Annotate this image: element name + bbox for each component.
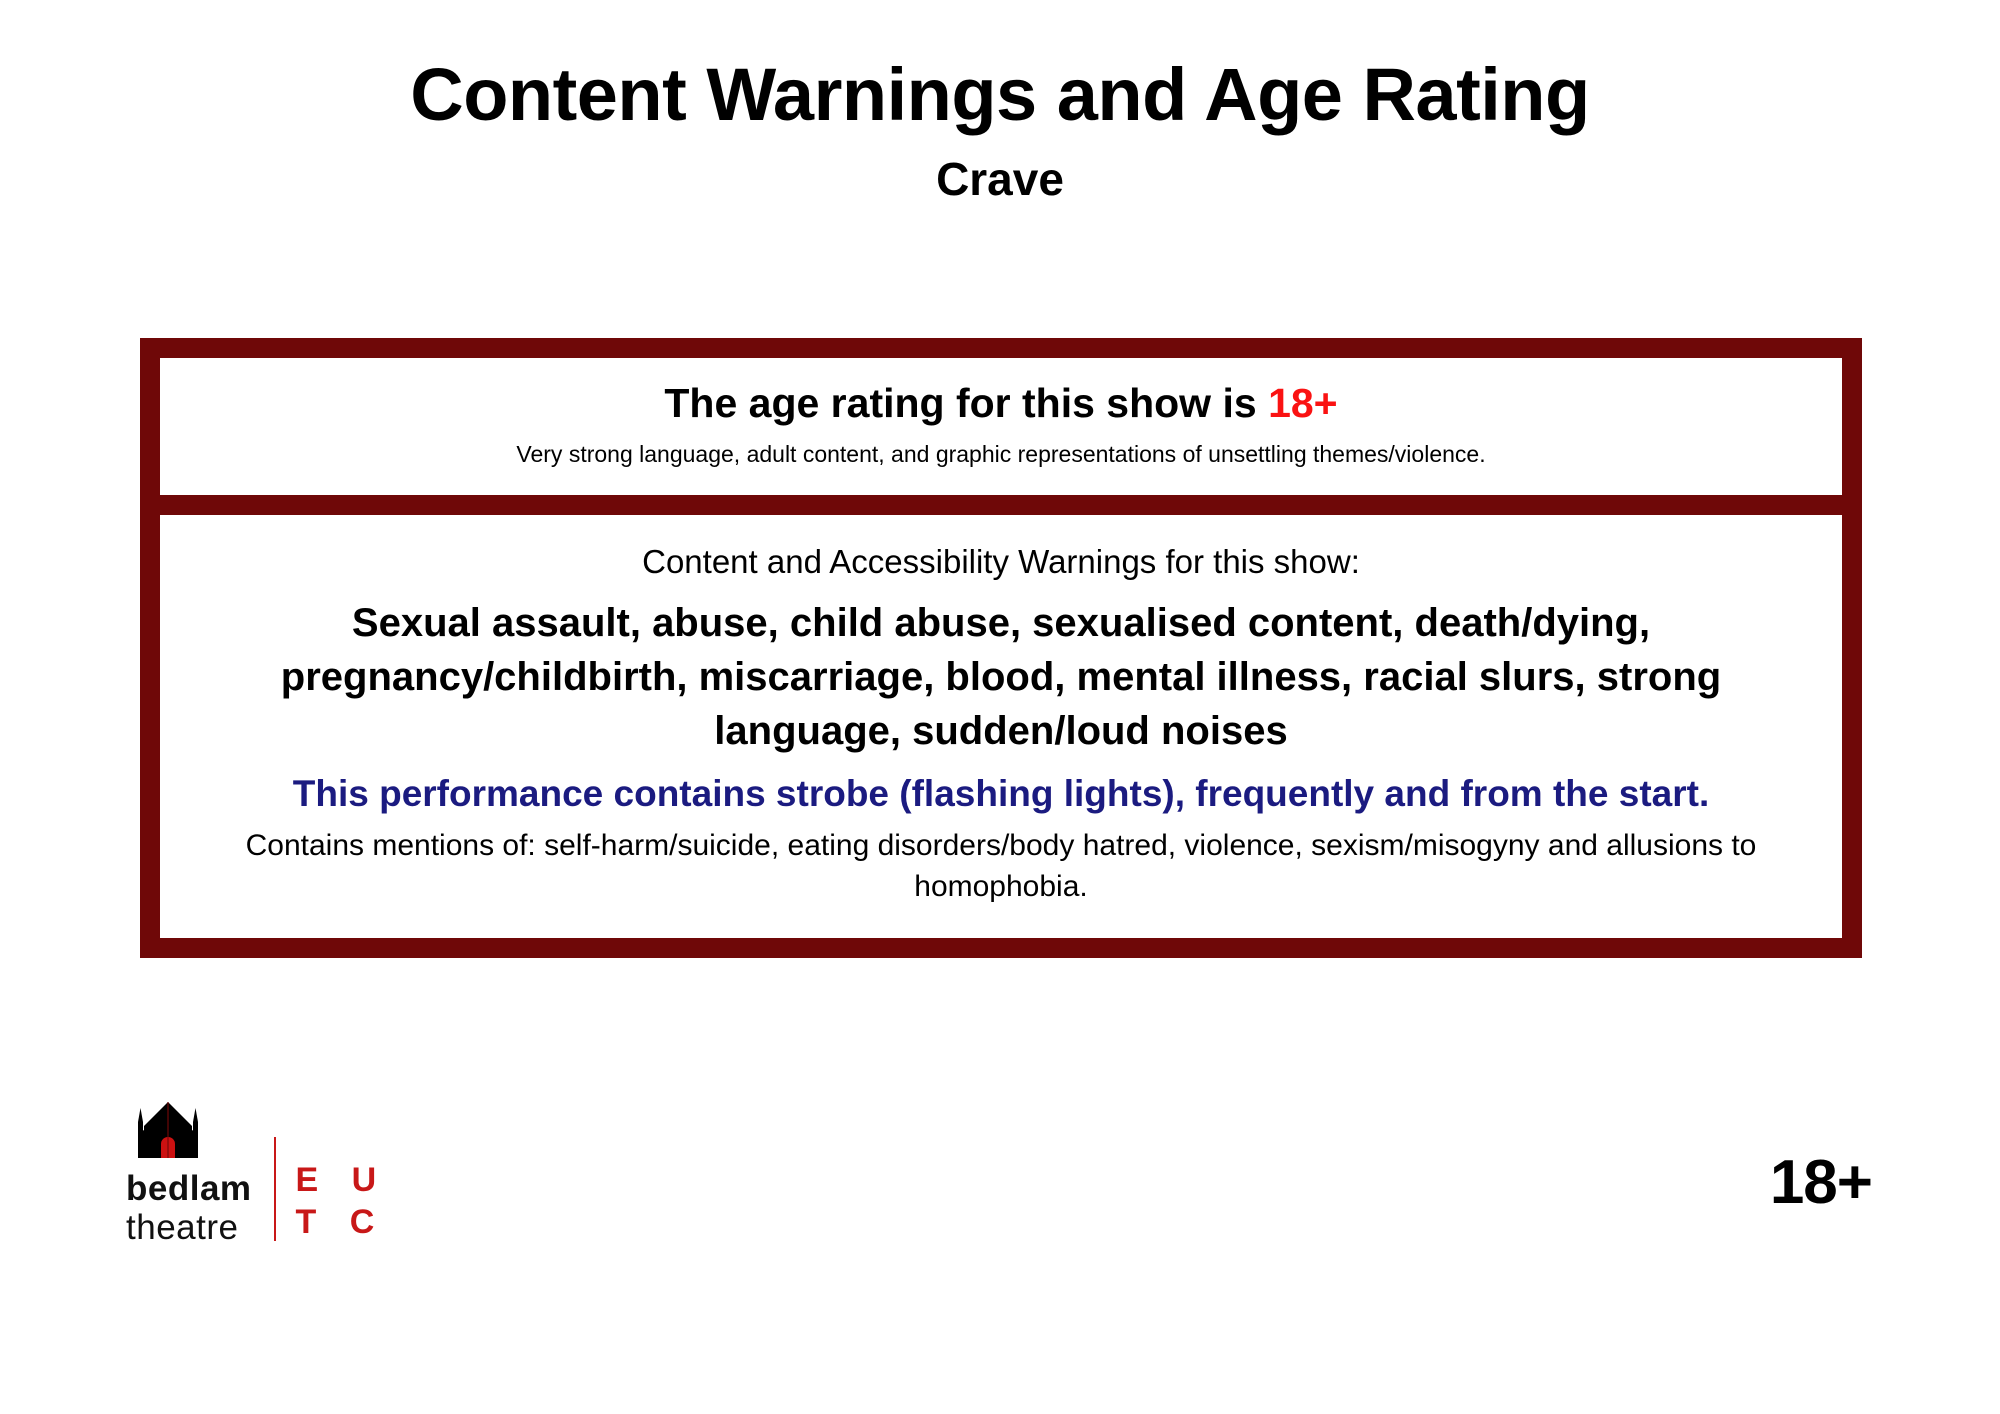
age-rating-line: The age rating for this show is 18+	[186, 380, 1816, 427]
bedlam-theatre-logo[interactable]: bedlam theatre E U T C	[126, 1100, 388, 1247]
content-mentions: Contains mentions of: self-harm/suicide,…	[190, 825, 1812, 908]
warnings-frame: The age rating for this show is 18+ Very…	[140, 338, 1862, 958]
logo-wordmark-group: bedlam theatre	[126, 1100, 252, 1247]
age-rating-description: Very strong language, adult content, and…	[186, 441, 1816, 469]
page-title: Content Warnings and Age Rating	[0, 58, 2000, 132]
logo-word-bedlam: bedlam	[126, 1169, 252, 1208]
content-warnings-panel: Content and Accessibility Warnings for t…	[160, 515, 1842, 938]
content-warnings-intro: Content and Accessibility Warnings for t…	[190, 541, 1812, 582]
page-footer: bedlam theatre E U T C 18+	[0, 1100, 2000, 1300]
eutc-wordmark: E U T C	[296, 1159, 389, 1247]
logo-divider	[274, 1137, 276, 1241]
age-rating-panel: The age rating for this show is 18+ Very…	[160, 358, 1842, 495]
age-badge: 18+	[1770, 1152, 1872, 1214]
page-header: Content Warnings and Age Rating Crave	[0, 0, 2000, 202]
panel-divider	[160, 495, 1842, 515]
strobe-warning: This performance contains strobe (flashi…	[190, 768, 1812, 819]
logo-word-theatre: theatre	[126, 1208, 238, 1247]
eutc-row-2: T C	[296, 1201, 389, 1243]
age-rating-prefix: The age rating for this show is	[664, 380, 1268, 426]
content-warnings-list: Sexual assault, abuse, child abuse, sexu…	[190, 596, 1812, 758]
show-title: Crave	[0, 156, 2000, 202]
age-rating-value: 18+	[1268, 380, 1338, 426]
eutc-row-1: E U	[296, 1159, 389, 1201]
bedlam-chapel-icon	[132, 1100, 204, 1167]
